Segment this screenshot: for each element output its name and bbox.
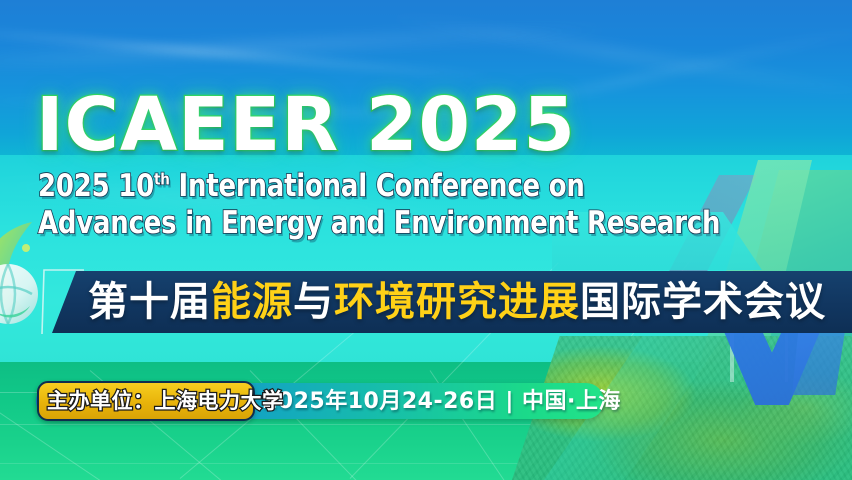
subtitle-line-2: Advances in Energy and Environment Resea… (38, 205, 810, 242)
ground-background (0, 362, 852, 480)
conference-banner: ICAEER 2025 2025 10th International Conf… (0, 0, 852, 480)
chinese-title: 第十届能源与环境研究进展国际学术会议 (88, 280, 826, 324)
page-title: ICAEER 2025 (36, 88, 576, 162)
chinese-title-seg-1: 第十届 (88, 279, 211, 325)
subtitle-line-1-pre: 2025 10 (38, 168, 154, 204)
chinese-title-seg-5: 国际学术会议 (580, 279, 826, 325)
subtitle-line-1-post: International Conference on (170, 168, 585, 204)
chinese-title-seg-3: 与 (293, 279, 334, 325)
host-organizer-text: 主办单位：上海电力大学 (47, 389, 284, 414)
ordinal-suffix: th (154, 170, 170, 189)
chinese-title-highlight-energy: 能源 (211, 279, 293, 325)
subtitle: 2025 10th International Conference on Ad… (38, 168, 810, 242)
date-location-text: 2025年10月24-26日 | 中国·上海 (262, 389, 621, 415)
chinese-title-highlight-environment: 环境研究进展 (334, 279, 580, 325)
subtitle-line-1: 2025 10th International Conference on (38, 168, 810, 205)
